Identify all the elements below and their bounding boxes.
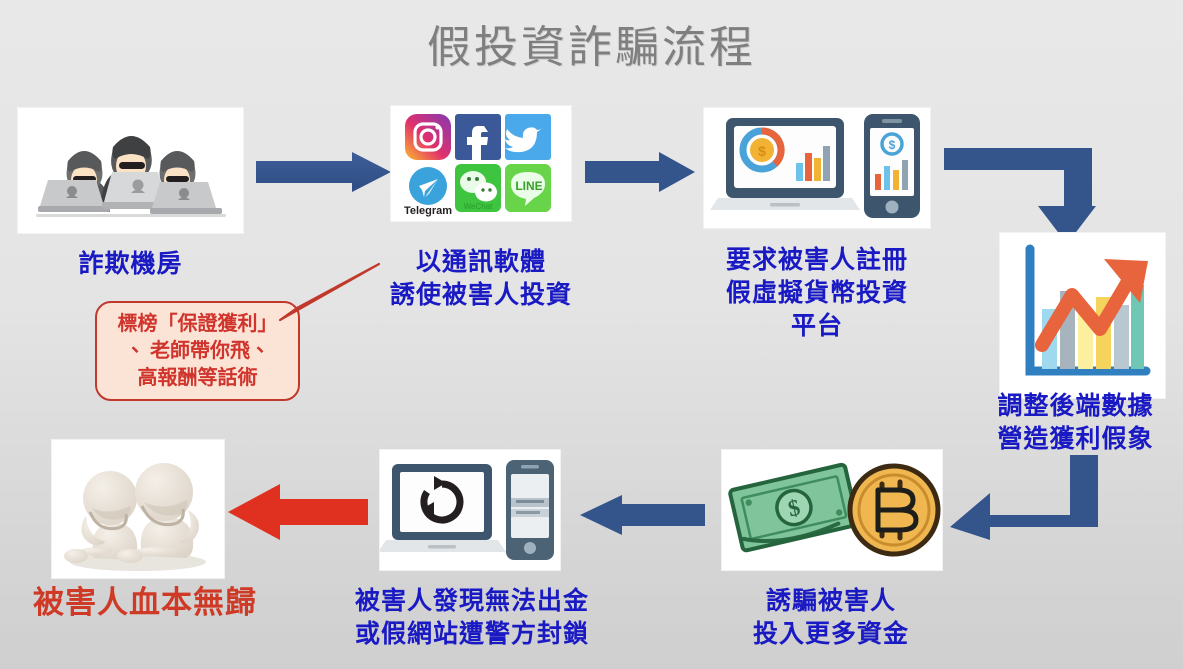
loading-blocked-devices-icon bbox=[380, 450, 560, 570]
step-3-caption: 要求被害人註冊 假虛擬貨幣投資 平台 bbox=[694, 244, 940, 343]
flowchart-canvas: 假投資詐騙流程 bbox=[0, 0, 1183, 669]
social-apps-grid: Telegram WeChat LINE bbox=[391, 106, 571, 221]
step-7-caption: 被害人血本無歸 bbox=[0, 584, 290, 622]
svg-text:$: $ bbox=[758, 143, 766, 159]
cash-bitcoin-icon: $ bbox=[722, 450, 942, 570]
step-2-image: Telegram WeChat LINE bbox=[391, 106, 571, 221]
step-5-caption: 誘騙被害人 投入更多資金 bbox=[716, 585, 946, 651]
arrow-step1-to-step2 bbox=[256, 152, 391, 192]
growth-chart-icon bbox=[1000, 233, 1165, 398]
callout-bubble: 標榜「保證獲利」 、 老師帶你飛、 高報酬等話術 bbox=[95, 301, 300, 401]
step-1-image bbox=[18, 108, 243, 233]
step-5-image: $ bbox=[722, 450, 942, 570]
svg-text:Telegram: Telegram bbox=[404, 205, 452, 217]
arrow-step5-to-step6 bbox=[580, 495, 705, 535]
page-title: 假投資詐騙流程 bbox=[0, 22, 1183, 74]
hackers-illustration bbox=[18, 108, 243, 233]
svg-text:WeChat: WeChat bbox=[464, 202, 494, 211]
step-4-caption: 調整後端數據 營造獲利假象 bbox=[968, 390, 1183, 456]
laptop-phone-trading-icon: $ $ bbox=[704, 108, 930, 228]
step-6-caption: 被害人發現無法出金 或假網站遭警方封鎖 bbox=[322, 585, 622, 651]
step-3-image: $ $ bbox=[704, 108, 930, 228]
step-7-image bbox=[52, 440, 224, 578]
despairing-figures bbox=[52, 440, 224, 578]
step-1-caption: 詐欺機房 bbox=[18, 248, 243, 281]
step-6-image bbox=[380, 450, 560, 570]
arrow-step6-to-step7 bbox=[228, 482, 368, 542]
arrow-step2-to-step3 bbox=[585, 152, 695, 192]
svg-text:LINE: LINE bbox=[515, 179, 542, 193]
callout-tail bbox=[275, 262, 385, 332]
step-2-caption: 以通訊軟體 誘使被害人投資 bbox=[366, 246, 596, 312]
svg-text:$: $ bbox=[889, 138, 896, 152]
arrow-step4-to-step5 bbox=[950, 455, 1100, 540]
step-4-image bbox=[1000, 233, 1165, 398]
callout-text: 標榜「保證獲利」 、 老師帶你飛、 高報酬等話術 bbox=[118, 311, 278, 392]
